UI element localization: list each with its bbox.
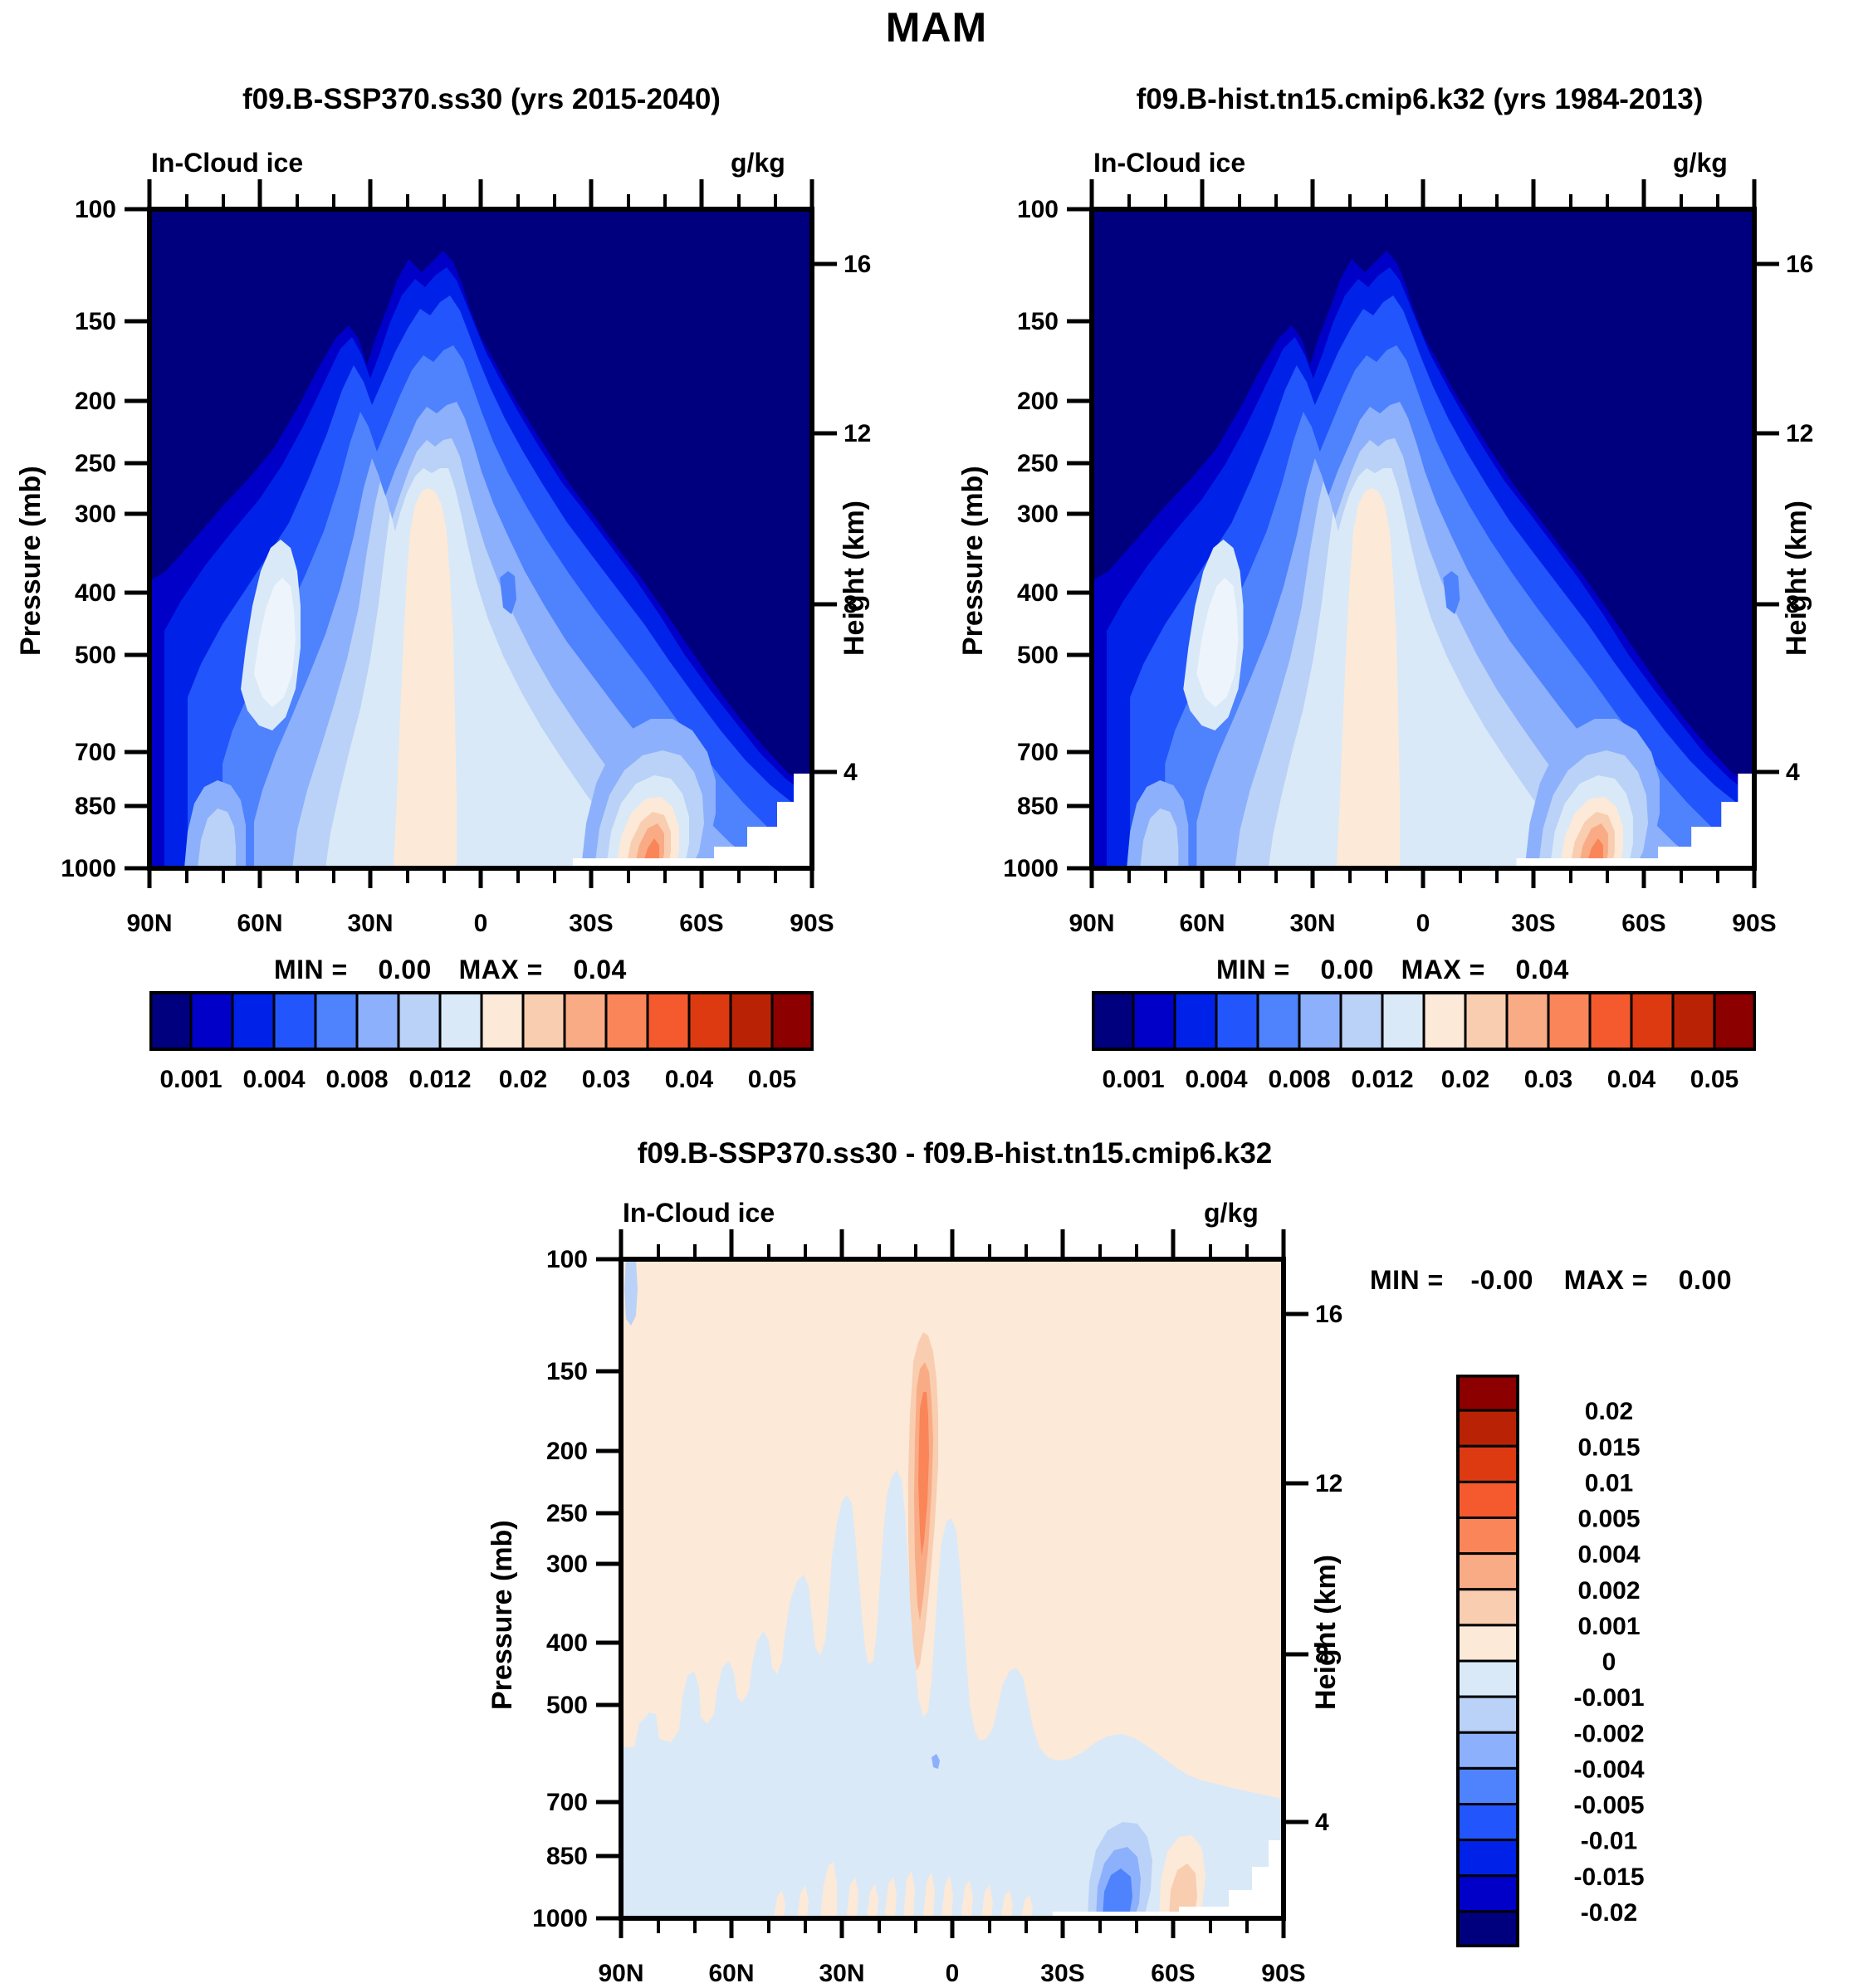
svg-text:0.02: 0.02 — [1585, 1398, 1633, 1425]
panel-title-left: f09.B-SSP370.ss30 (yrs 2015-2040) — [50, 83, 913, 116]
xtick-diff-5: 60S — [1123, 1960, 1223, 1988]
ytick-diff-6: 500 — [511, 1692, 588, 1720]
ytick-diff-0: 100 — [511, 1246, 588, 1274]
max-value-diff: 0.00 — [1679, 1265, 1732, 1295]
svg-text:0.005: 0.005 — [1577, 1506, 1640, 1533]
page-title: MAM — [0, 3, 1873, 51]
max-label-right: MAX = — [1401, 955, 1485, 984]
ytick-diff-7: 700 — [511, 1789, 588, 1817]
xtick-left-1: 60N — [210, 910, 310, 938]
min-label-left: MIN = — [274, 955, 348, 984]
xtick-diff-6: 90S — [1234, 1960, 1333, 1988]
ytick-left-6: 500 — [40, 642, 116, 670]
svg-text:-0.005: -0.005 — [1573, 1792, 1644, 1819]
xtick-left-0: 90N — [100, 910, 199, 938]
ytick-left-8: 850 — [40, 793, 116, 821]
svg-text:0.001: 0.001 — [1102, 1066, 1164, 1093]
y2tick-diff-0: 16 — [1315, 1301, 1342, 1329]
xtick-left-4: 30S — [541, 910, 641, 938]
ytick-diff-3: 250 — [511, 1500, 588, 1528]
svg-text:0.04: 0.04 — [665, 1066, 714, 1093]
contour-plot-diff[interactable] — [472, 1166, 1385, 1938]
svg-text:0.01: 0.01 — [1585, 1469, 1633, 1497]
max-label-diff: MAX = — [1564, 1265, 1648, 1295]
ytick-left-0: 100 — [40, 196, 116, 224]
xtick-diff-2: 30N — [792, 1960, 892, 1988]
xtick-right-4: 30S — [1484, 910, 1583, 938]
svg-text:-0.001: -0.001 — [1573, 1684, 1644, 1712]
min-value-left: 0.00 — [379, 955, 432, 984]
ytick-right-8: 850 — [982, 793, 1059, 821]
svg-text:0.02: 0.02 — [499, 1066, 547, 1093]
svg-text:0.008: 0.008 — [325, 1066, 388, 1093]
min-label-diff: MIN = — [1370, 1265, 1444, 1295]
y2tick-right-3: 4 — [1786, 759, 1800, 787]
xtick-right-0: 90N — [1042, 910, 1142, 938]
ytick-left-3: 250 — [40, 450, 116, 478]
ytick-right-5: 400 — [982, 579, 1059, 608]
svg-text:0.015: 0.015 — [1577, 1434, 1640, 1461]
colorbar-diff[interactable] — [1455, 1375, 1521, 1947]
svg-text:0.03: 0.03 — [1524, 1066, 1572, 1093]
svg-text:0.05: 0.05 — [1690, 1066, 1739, 1093]
ytick-right-4: 300 — [982, 501, 1059, 529]
svg-text:-0.004: -0.004 — [1573, 1756, 1644, 1783]
xtick-right-3: 0 — [1373, 910, 1473, 938]
y2tick-right-1: 12 — [1786, 420, 1813, 448]
colorbar-right-labels: 0.0010.0040.0080.0120.020.030.040.05 — [1092, 1056, 1756, 1097]
ytick-left-9: 1000 — [28, 855, 116, 883]
xtick-diff-1: 60N — [682, 1960, 781, 1988]
xtick-diff-0: 90N — [571, 1960, 671, 1988]
y2tick-left-1: 12 — [844, 420, 871, 448]
y2tick-right-0: 16 — [1786, 251, 1813, 279]
min-value-right: 0.00 — [1321, 955, 1374, 984]
panel-title-right: f09.B-hist.tn15.cmip6.k32 (yrs 1984-2013… — [980, 83, 1860, 116]
ytick-right-6: 500 — [982, 642, 1059, 670]
ytick-diff-8: 850 — [511, 1843, 588, 1871]
svg-text:0.008: 0.008 — [1268, 1066, 1330, 1093]
svg-text:0.004: 0.004 — [1577, 1541, 1640, 1569]
xtick-diff-3: 0 — [902, 1960, 1002, 1988]
svg-text:0.012: 0.012 — [408, 1066, 471, 1093]
svg-text:-0.01: -0.01 — [1581, 1828, 1637, 1855]
xtick-left-5: 60S — [652, 910, 751, 938]
svg-text:0.03: 0.03 — [582, 1066, 630, 1093]
xtick-left-6: 90S — [762, 910, 862, 938]
ytick-right-3: 250 — [982, 450, 1059, 478]
svg-text:-0.002: -0.002 — [1573, 1720, 1644, 1747]
svg-text:0.02: 0.02 — [1441, 1066, 1489, 1093]
svg-text:0.004: 0.004 — [242, 1066, 305, 1093]
ytick-left-2: 200 — [40, 388, 116, 416]
colorbar-left-labels: 0.0010.0040.0080.0120.020.030.040.05 — [149, 1056, 814, 1097]
ytick-left-1: 150 — [40, 308, 116, 336]
svg-text:0.001: 0.001 — [1577, 1613, 1640, 1640]
y2tick-diff-3: 4 — [1315, 1809, 1329, 1837]
max-label-left: MAX = — [459, 955, 543, 984]
ytick-left-7: 700 — [40, 739, 116, 767]
xtick-left-2: 30N — [320, 910, 420, 938]
ytick-diff-5: 400 — [511, 1629, 588, 1658]
svg-text:0.002: 0.002 — [1577, 1577, 1640, 1605]
colorbar-left[interactable] — [149, 989, 814, 1053]
y2tick-diff-1: 12 — [1315, 1470, 1342, 1498]
xtick-left-3: 0 — [431, 910, 531, 938]
ytick-diff-4: 300 — [511, 1551, 588, 1579]
y2tick-left-3: 4 — [844, 759, 858, 787]
y2tick-diff-2: 8 — [1315, 1641, 1329, 1669]
max-value-right: 0.04 — [1516, 955, 1569, 984]
svg-text:0.04: 0.04 — [1607, 1066, 1656, 1093]
contour-plot-right[interactable] — [942, 116, 1856, 888]
y2tick-right-2: 8 — [1786, 591, 1800, 619]
panel-title-diff: f09.B-SSP370.ss30 - f09.B-hist.tn15.cmip… — [448, 1137, 1461, 1170]
svg-text:0.001: 0.001 — [159, 1066, 222, 1093]
svg-text:-0.015: -0.015 — [1573, 1863, 1644, 1891]
minmax-diff: MIN = -0.00 MAX = 0.00 — [1370, 1265, 1732, 1296]
ytick-diff-2: 200 — [511, 1438, 588, 1466]
colorbar-diff-labels: 0.020.0150.010.0050.0040.0020.0010-0.001… — [1526, 1375, 1692, 1972]
ytick-diff-9: 1000 — [500, 1905, 588, 1933]
ytick-right-2: 200 — [982, 388, 1059, 416]
svg-text:0: 0 — [1602, 1649, 1616, 1676]
ytick-right-7: 700 — [982, 739, 1059, 767]
xtick-right-5: 60S — [1594, 910, 1694, 938]
min-value-diff: -0.00 — [1471, 1265, 1533, 1295]
min-label-right: MIN = — [1216, 955, 1290, 984]
minmax-right: MIN = 0.00 MAX = 0.04 — [1216, 955, 1569, 985]
svg-text:0.05: 0.05 — [748, 1066, 796, 1093]
svg-text:0.012: 0.012 — [1351, 1066, 1413, 1093]
ytick-left-5: 400 — [40, 579, 116, 608]
minmax-left: MIN = 0.00 MAX = 0.04 — [274, 955, 627, 985]
contour-plot-left[interactable] — [0, 116, 913, 888]
ytick-left-4: 300 — [40, 501, 116, 529]
y2tick-left-0: 16 — [844, 251, 871, 279]
max-value-left: 0.04 — [574, 955, 627, 984]
svg-text:0.004: 0.004 — [1185, 1066, 1247, 1093]
ytick-right-1: 150 — [982, 308, 1059, 336]
ytick-diff-1: 150 — [511, 1358, 588, 1386]
xtick-diff-4: 30S — [1013, 1960, 1113, 1988]
y2tick-left-2: 8 — [844, 591, 858, 619]
xtick-right-1: 60N — [1152, 910, 1252, 938]
ytick-right-9: 1000 — [971, 855, 1059, 883]
xtick-right-2: 30N — [1263, 910, 1362, 938]
svg-text:-0.02: -0.02 — [1581, 1899, 1637, 1927]
xtick-right-6: 90S — [1704, 910, 1804, 938]
colorbar-right[interactable] — [1092, 989, 1756, 1053]
ytick-right-0: 100 — [982, 196, 1059, 224]
